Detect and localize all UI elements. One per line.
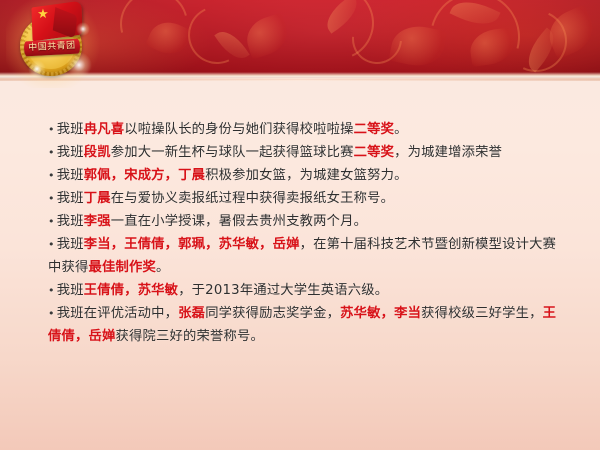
bullet-text: 我班: [57, 168, 84, 183]
sparkle-icon: [66, 52, 92, 78]
bullet-text: 一直在小学授课，暑假去贵州支教两个月。: [111, 214, 367, 229]
bullet-text: 同学获得励志奖学金，: [205, 306, 340, 321]
bullet-marker-icon: •: [48, 169, 55, 182]
bullet-text: 我班: [57, 122, 84, 137]
bullet-marker-icon: •: [48, 123, 55, 136]
bullet-text: 我班在评优活动中，: [57, 306, 178, 321]
bullet-text: 我班: [57, 145, 84, 160]
bullet-text: 积极参加女篮，为城建女篮努力。: [205, 168, 407, 183]
bullet-item: •我班李当，王倩倩，郭珮，苏华敏，岳婵，在第十届科技艺术节暨创新模型设计大赛中获…: [48, 233, 568, 279]
highlighted-name: 二等奖: [354, 122, 395, 137]
bullet-item: •我班丁晨在与爱协义卖报纸过程中获得卖报纸女王称号。: [48, 187, 568, 210]
emblem: ★ 中国共青团: [14, 2, 90, 78]
bullet-text: 获得院三好的荣誉称号。: [115, 329, 263, 344]
bullet-text: 我班: [57, 214, 84, 229]
bullet-text: 我班: [57, 283, 84, 298]
highlighted-name: 冉凡喜: [84, 122, 125, 137]
bullet-item: •我班李强一直在小学授课，暑假去贵州支教两个月。: [48, 210, 568, 233]
bullet-text: 参加大一新生杯与球队一起获得篮球比赛: [111, 145, 354, 160]
bullet-marker-icon: •: [48, 146, 55, 159]
highlighted-name: 张磊: [178, 306, 205, 321]
presentation-slide: ★ 中国共青团 •我班冉凡喜以啦操队长的身份与她们获得校啦啦操二等奖。•我班段凯…: [0, 0, 600, 450]
highlighted-name: 最佳制作奖: [89, 260, 156, 275]
bullet-text: 获得校级三好学生，: [421, 306, 542, 321]
highlighted-name: 王倩倩，苏华敏: [84, 283, 178, 298]
bullet-marker-icon: •: [48, 284, 55, 297]
bullet-text: 我班: [57, 191, 84, 206]
highlighted-name: 二等奖: [354, 145, 395, 160]
bullet-item: •我班在评优活动中，张磊同学获得励志奖学金，苏华敏，李当获得校级三好学生，王倩倩…: [48, 302, 568, 348]
gold-star-icon: ★: [37, 9, 49, 21]
highlighted-name: 李当，王倩倩，郭珮，苏华敏，岳婵: [84, 237, 300, 252]
sparkle-icon: [76, 22, 90, 36]
highlighted-name: 苏华敏，李当: [340, 306, 421, 321]
bullet-list: •我班冉凡喜以啦操队长的身份与她们获得校啦啦操二等奖。•我班段凯参加大一新生杯与…: [48, 118, 568, 348]
highlighted-name: 郭佩，宋成方，丁晨: [84, 168, 205, 183]
bullet-text: 以啦操队长的身份与她们获得校啦啦操: [124, 122, 353, 137]
highlighted-name: 李强: [84, 214, 111, 229]
bullet-marker-icon: •: [48, 238, 55, 251]
bullet-text: ，于2013年通过大学生英语六级。: [178, 283, 388, 298]
highlighted-name: 丁晨: [84, 191, 111, 206]
bullet-text: 我班: [57, 237, 84, 252]
bullet-item: •我班冉凡喜以啦操队长的身份与她们获得校啦啦操二等奖。: [48, 118, 568, 141]
highlighted-name: 段凯: [84, 145, 111, 160]
sparkle-icon: [28, 60, 46, 78]
bullet-item: •我班段凯参加大一新生杯与球队一起获得篮球比赛二等奖，为城建增添荣誉: [48, 141, 568, 164]
bullet-marker-icon: •: [48, 215, 55, 228]
bullet-text: ，为城建增添荣誉: [394, 145, 502, 160]
bullet-item: •我班王倩倩，苏华敏，于2013年通过大学生英语六级。: [48, 279, 568, 302]
bullet-text: 。: [156, 260, 170, 275]
bullet-text: 。: [394, 122, 408, 137]
bullet-item: •我班郭佩，宋成方，丁晨积极参加女篮，为城建女篮努力。: [48, 164, 568, 187]
bullet-marker-icon: •: [48, 307, 55, 320]
bullet-marker-icon: •: [48, 192, 55, 205]
bullet-text: 在与爱协义卖报纸过程中获得卖报纸女王称号。: [111, 191, 394, 206]
